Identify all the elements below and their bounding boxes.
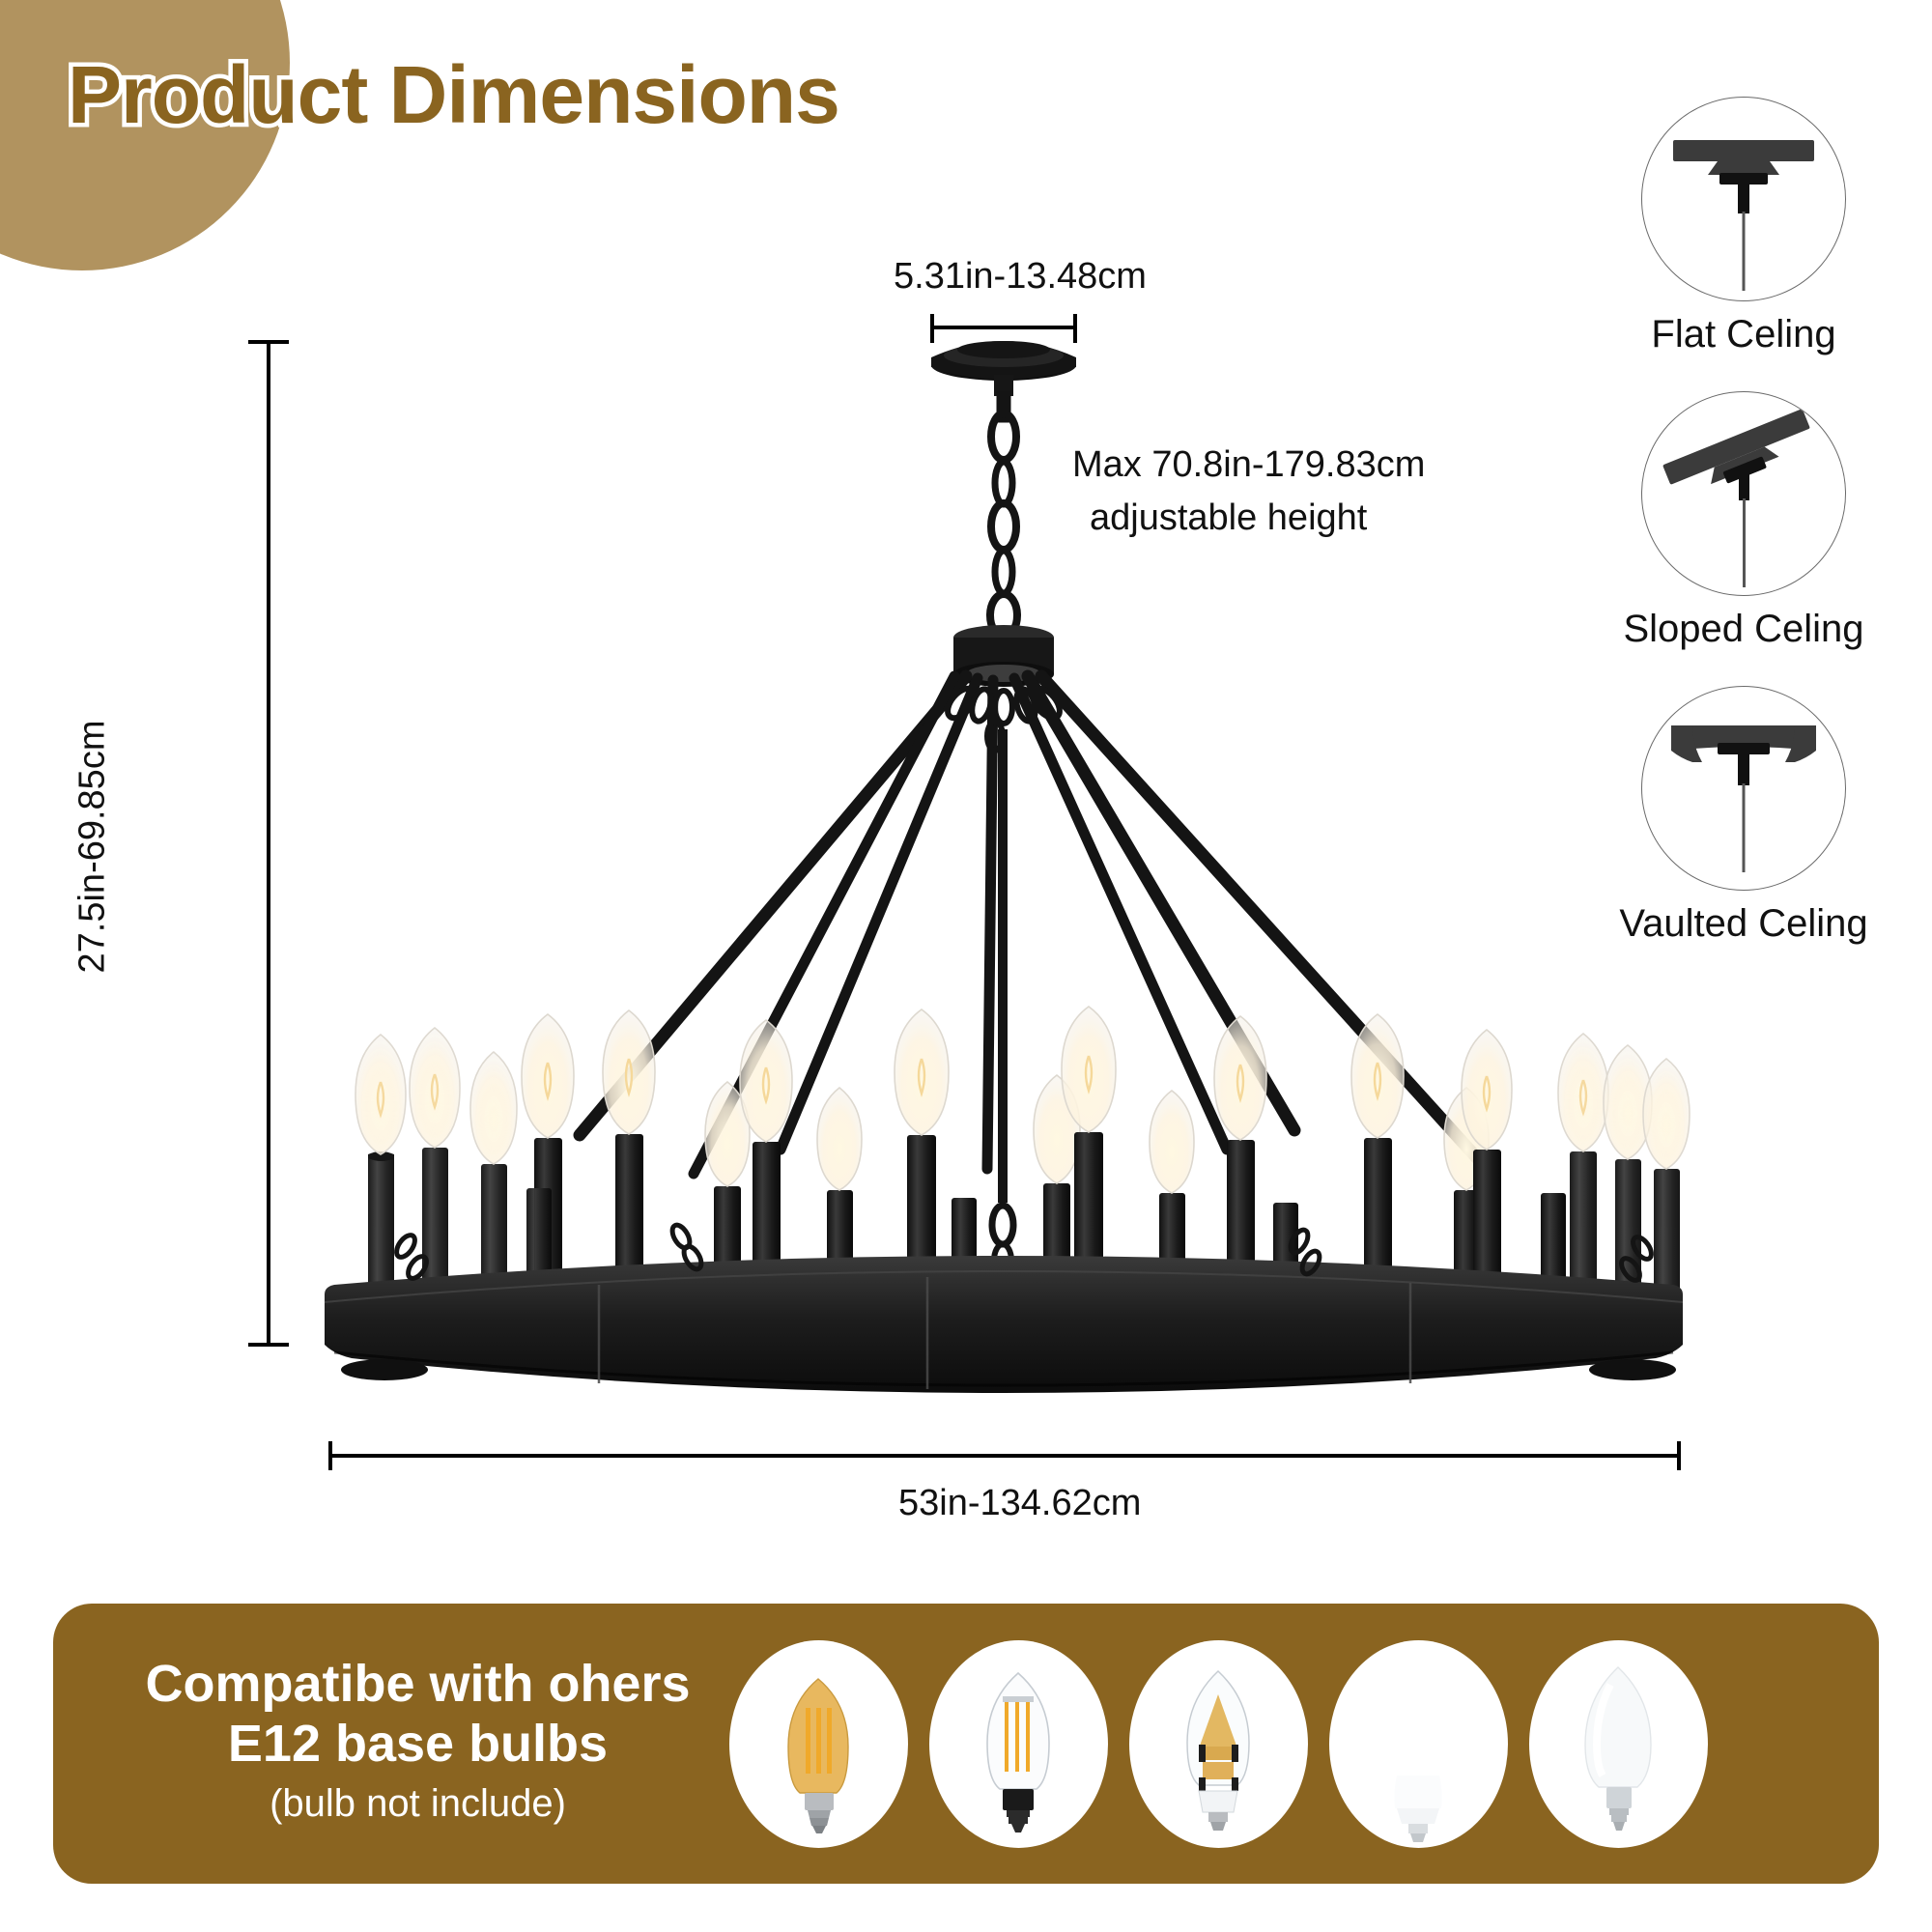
- compatible-bulb-icons: [729, 1640, 1708, 1848]
- candle-socket: [1351, 1014, 1404, 1294]
- vaulted-ceiling-mount-icon: [1641, 686, 1846, 891]
- candle-socket: [410, 1028, 460, 1294]
- ceiling-option-label: Vaulted Celing: [1584, 902, 1903, 946]
- candle-socket: [1062, 1007, 1116, 1294]
- amber-filament-candle-bulb-icon: [729, 1640, 908, 1848]
- fixture-height-tick-top: [248, 340, 289, 344]
- candle-socket: [522, 1014, 574, 1294]
- ceiling-option-vaulted: Vaulted Celing: [1584, 686, 1903, 946]
- ceiling-option-label: Flat Celing: [1584, 313, 1903, 356]
- fixture-width-label: 53in-134.62cm: [898, 1483, 1141, 1524]
- candle-socket: [1444, 1088, 1489, 1294]
- fixture-width-tick-left: [328, 1441, 332, 1470]
- rgb-smart-candle-bulb-icon: [1329, 1640, 1508, 1848]
- candle-socket: [1150, 1091, 1194, 1294]
- candle-socket: [1604, 1045, 1652, 1294]
- chandelier-hub: [953, 625, 1054, 687]
- frosted-white-candle-bulb-icon: [1529, 1640, 1708, 1848]
- banner-headline-line2: E12 base bulbs: [106, 1715, 729, 1775]
- fixture-width-tick-right: [1677, 1441, 1681, 1470]
- canopy-width-label: 5.31in-13.48cm: [894, 256, 1147, 298]
- gold-led-corn-candle-bulb-icon: [1129, 1640, 1308, 1848]
- fixture-height-tick-bottom: [248, 1343, 289, 1347]
- candle-socket: [1558, 1034, 1608, 1294]
- banner-note: (bulb not include): [106, 1775, 729, 1833]
- candle-socket: [1034, 1075, 1080, 1294]
- ceiling-canopy: [931, 341, 1076, 396]
- clear-filament-candle-bulb-icon: [929, 1640, 1108, 1848]
- candle-socket: [740, 1020, 792, 1294]
- candle-socket: [1541, 1193, 1566, 1294]
- ceiling-option-flat: Flat Celing: [1584, 97, 1903, 356]
- candle-socket: [355, 1035, 406, 1294]
- candle-socket: [1273, 1203, 1298, 1294]
- adjustable-height-label-line1: Max 70.8in-179.83cm: [1072, 444, 1425, 486]
- candle-socket: [1643, 1059, 1690, 1294]
- adjustable-height-label-line2: adjustable height: [1090, 497, 1367, 539]
- page-title: Product Dimensions: [68, 48, 839, 142]
- fixture-width-dimension-line: [328, 1454, 1681, 1458]
- ring-chain-accents: [393, 1222, 1655, 1283]
- ceiling-option-sloped: Sloped Celing: [1584, 391, 1903, 651]
- canopy-width-tick-left: [930, 314, 934, 343]
- suspension-chain: [990, 391, 1017, 637]
- candle-socket: [1462, 1030, 1512, 1294]
- candle-socket: [1214, 1016, 1266, 1294]
- canopy-width-tick-right: [1073, 314, 1077, 343]
- candle-socket: [470, 1052, 517, 1294]
- candle-socket: [526, 1188, 552, 1294]
- ceiling-options-list: Flat Celing Sloped Celing: [1584, 97, 1903, 980]
- flat-ceiling-mount-icon: [1641, 97, 1846, 301]
- canopy-width-dimension-line: [930, 326, 1077, 329]
- chandelier-arms: [580, 676, 1478, 1174]
- ceiling-option-label: Sloped Celing: [1584, 608, 1903, 651]
- arm-chain-links: [943, 684, 1065, 751]
- sloped-ceiling-mount-icon: [1641, 391, 1846, 596]
- candle-socket: [705, 1082, 750, 1294]
- center-stem: [992, 729, 1013, 1277]
- banner-headline-line1: Compatibe with ohers: [106, 1655, 729, 1715]
- fixture-height-label: 27.5in-69.85cm: [71, 721, 113, 974]
- candle-socket: [895, 1009, 949, 1294]
- chandelier-ring-band: [325, 1256, 1683, 1393]
- candle-socket: [952, 1198, 977, 1294]
- candle-socket: [603, 1010, 655, 1294]
- fixture-height-dimension-line: [267, 340, 270, 1347]
- bulb-compatibility-banner: Compatibe with ohers E12 base bulbs (bul…: [53, 1604, 1879, 1884]
- banner-text-block: Compatibe with ohers E12 base bulbs (bul…: [53, 1655, 729, 1832]
- candle-sockets-group: [355, 1007, 1690, 1294]
- candle-socket: [817, 1088, 862, 1294]
